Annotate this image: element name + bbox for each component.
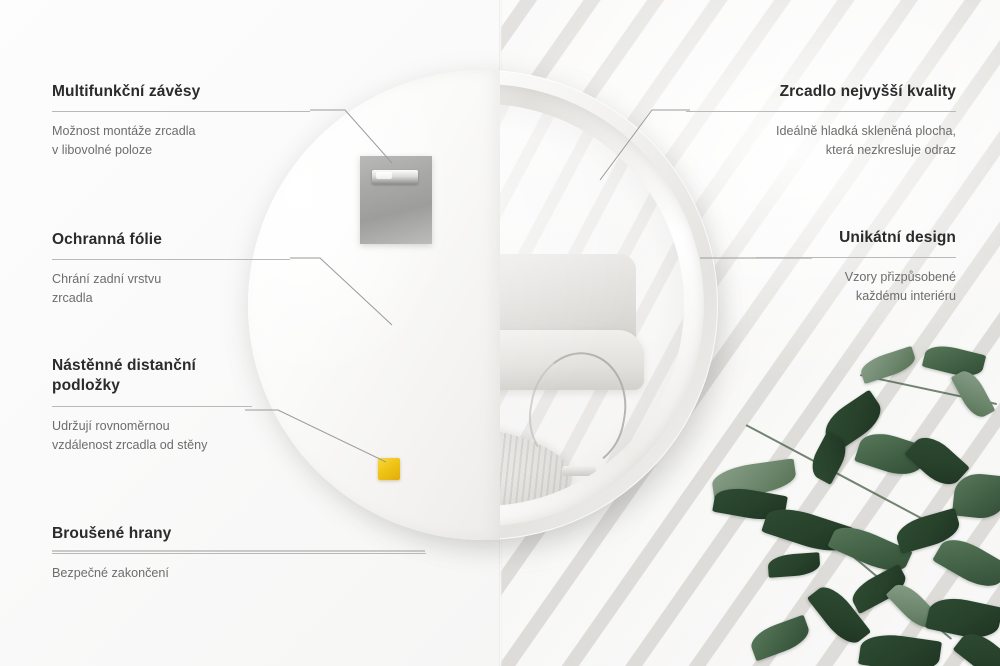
title-rule bbox=[52, 111, 310, 112]
feature-title: Ochranná fólie bbox=[52, 230, 290, 250]
feature-title: Nástěnné distanční podložky bbox=[52, 356, 252, 397]
desc-line-1: Bezpečné zakončení bbox=[52, 566, 169, 580]
feature-description: Chrání zadní vrstvu zrcadla bbox=[52, 270, 290, 307]
desc-line-1: Ideálně hladká skleněná plocha, bbox=[776, 124, 956, 138]
desc-line-2: která nezkresluje odraz bbox=[826, 143, 956, 157]
title-rule bbox=[52, 553, 426, 554]
feature-zrcadlo-nejvyssi-kvality: Zrcadlo nejvyšší kvality Ideálně hladká … bbox=[686, 82, 956, 160]
feature-description: Bezpečné zakončení bbox=[52, 564, 426, 583]
leaf bbox=[858, 346, 918, 384]
desc-line-1: Možnost montáže zrcadla bbox=[52, 124, 196, 138]
hanger-bracket-detail bbox=[360, 156, 432, 244]
feature-brousene-hrany: Broušené hrany Bezpečné zakončení bbox=[52, 524, 426, 583]
feature-unikatni-design: Unikátní design Vzory přizpůsobené každé… bbox=[756, 228, 956, 306]
feature-description: Udržují rovnoměrnou vzdálenost zrcadla o… bbox=[52, 417, 252, 454]
title-rule bbox=[756, 257, 956, 258]
leaf bbox=[858, 631, 942, 666]
leaf bbox=[747, 615, 813, 662]
leaf bbox=[767, 552, 820, 578]
feature-title-line-2: podložky bbox=[52, 377, 120, 394]
foreground-plant-leaves bbox=[710, 348, 1000, 666]
title-rule bbox=[52, 406, 252, 407]
title-rule bbox=[686, 111, 956, 112]
hanger-slot-icon bbox=[376, 172, 392, 179]
title-rule bbox=[52, 259, 290, 260]
feature-description: Možnost montáže zrcadla v libovolné polo… bbox=[52, 122, 310, 159]
desc-line-1: Chrání zadní vrstvu bbox=[52, 272, 161, 286]
feature-multifunkcni-zavesy: Multifunkční závěsy Možnost montáže zrca… bbox=[52, 82, 310, 160]
desc-line-2: vzdálenost zrcadla od stěny bbox=[52, 438, 207, 452]
feature-title: Unikátní design bbox=[756, 228, 956, 248]
round-mirror bbox=[248, 70, 718, 540]
feature-ochranna-folie: Ochranná fólie Chrání zadní vrstvu zrcad… bbox=[52, 230, 290, 308]
feature-description: Vzory přizpůsobené každému interiéru bbox=[756, 268, 956, 305]
desc-line-1: Udržují rovnoměrnou bbox=[52, 419, 170, 433]
yellow-spacer-pad-detail bbox=[378, 458, 400, 480]
infographic-canvas: Multifunkční závěsy Možnost montáže zrca… bbox=[0, 0, 1000, 666]
feature-nastenne-distancni-podlozky: Nástěnné distanční podložky Udržují rovn… bbox=[52, 356, 252, 454]
feature-title: Multifunkční závěsy bbox=[52, 82, 310, 102]
desc-line-1: Vzory přizpůsobené bbox=[845, 270, 956, 284]
feature-description: Ideálně hladká skleněná plocha, která ne… bbox=[686, 122, 956, 159]
feature-title: Broušené hrany bbox=[52, 524, 426, 544]
desc-line-2: v libovolné poloze bbox=[52, 143, 152, 157]
desc-line-2: každému interiéru bbox=[856, 289, 956, 303]
desc-line-2: zrcadla bbox=[52, 291, 93, 305]
feature-title: Zrcadlo nejvyšší kvality bbox=[686, 82, 956, 102]
feature-title-line-1: Nástěnné distanční bbox=[52, 357, 196, 374]
